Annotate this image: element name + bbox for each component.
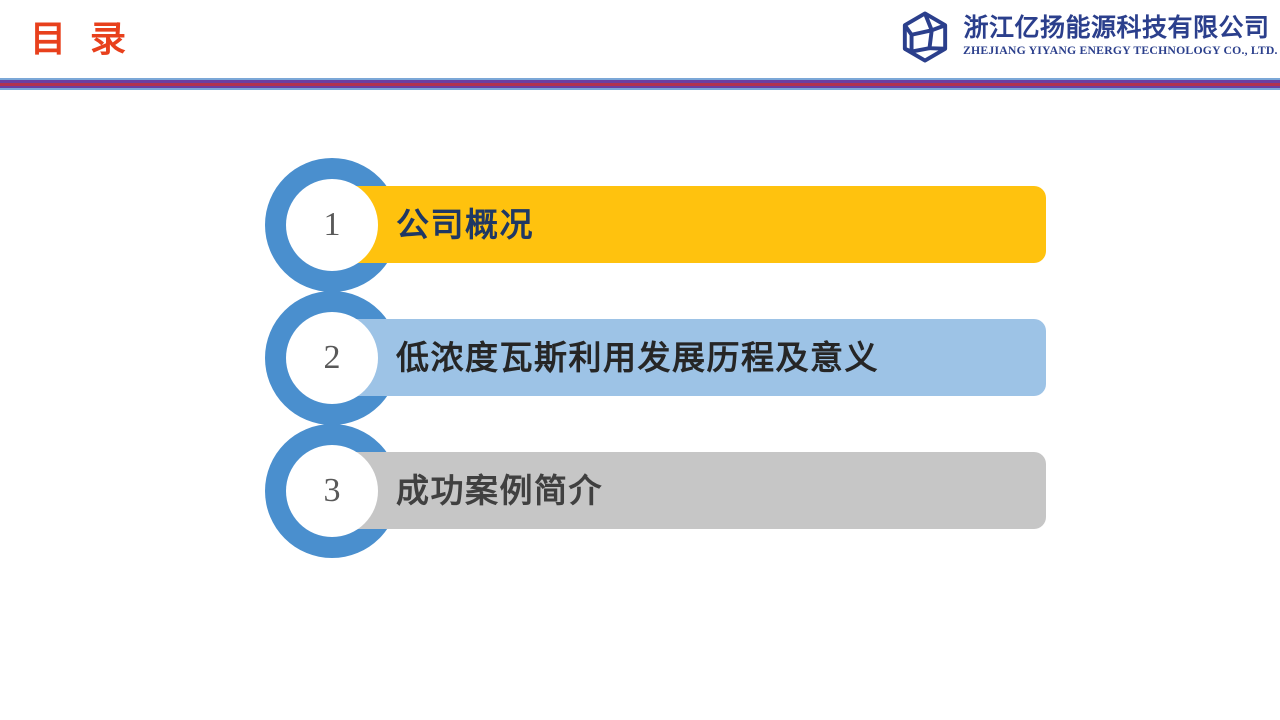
agenda-bar-2[interactable]: 低浓度瓦斯利用发展历程及意义 [330,319,1046,396]
header-divider [0,78,1280,90]
agenda-item-3[interactable]: 成功案例简介 3 [0,424,1280,558]
agenda-number-badge-1: 1 [286,179,378,271]
agenda-number-badge-2: 2 [286,312,378,404]
company-name-en: ZHEJIANG YIYANG ENERGY TECHNOLOGY CO., L… [963,46,1278,58]
agenda-number-badge-3: 3 [286,445,378,537]
agenda-item-1[interactable]: 公司概况 1 [0,158,1280,292]
agenda-bar-3[interactable]: 成功案例简介 [330,452,1046,529]
page-title: 目 录 [30,16,133,62]
agenda-label-2: 低浓度瓦斯利用发展历程及意义 [396,341,879,374]
agenda-label-1: 公司概况 [396,208,534,241]
company-name-cn: 浙江亿扬能源科技有限公司 [963,16,1272,41]
agenda-number-1: 1 [324,208,341,242]
company-logo-text: 浙江亿扬能源科技有限公司 ZHEJIANG YIYANG ENERGY TECH… [963,16,1272,58]
agenda-label-3: 成功案例简介 [396,474,603,507]
agenda-list: 公司概况 1 低浓度瓦斯利用发展历程及意义 2 成功案例简介 3 [0,90,1280,720]
company-logo: 浙江亿扬能源科技有限公司 ZHEJIANG YIYANG ENERGY TECH… [897,4,1272,70]
agenda-bar-1[interactable]: 公司概况 [330,186,1046,263]
slide-header: 目 录 浙江亿扬能源科技有限公司 ZHEJIANG YIYANG ENERGY … [0,0,1280,78]
agenda-item-2[interactable]: 低浓度瓦斯利用发展历程及意义 2 [0,291,1280,425]
agenda-number-2: 2 [324,341,341,375]
agenda-number-3: 3 [324,474,341,508]
hexagon-cube-logo-icon [897,9,953,65]
